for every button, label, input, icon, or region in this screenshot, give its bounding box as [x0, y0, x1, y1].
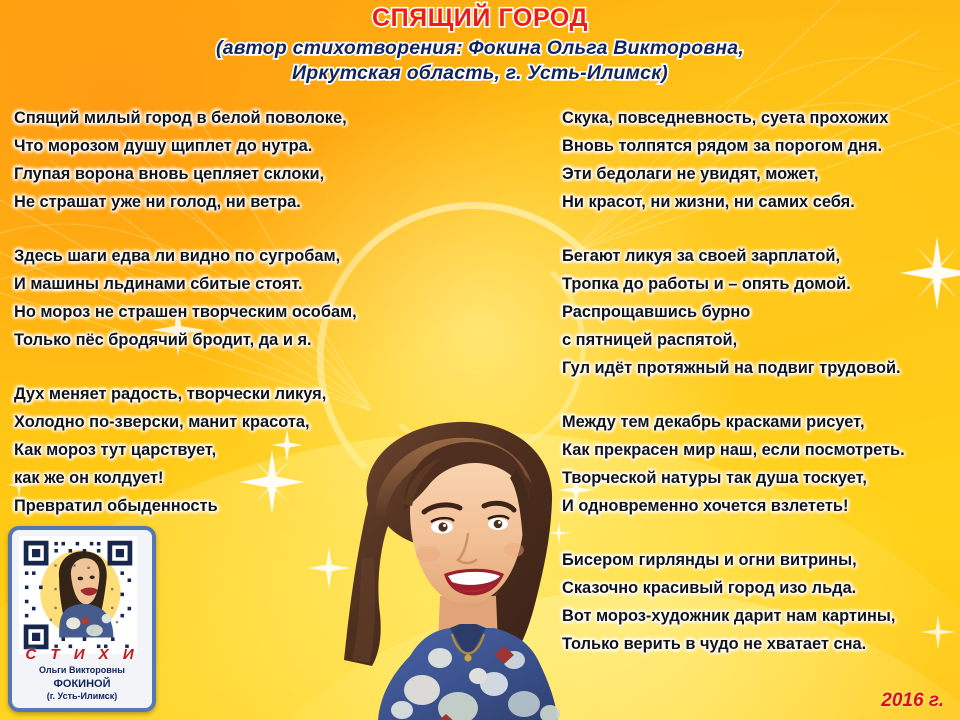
poem-line: Только пёс бродячий бродит, да и я.: [14, 332, 494, 360]
qr-caption-line-1: Ольги Викторовны: [12, 665, 152, 677]
poem-line: Между тем декабрь красками рисует,: [562, 414, 960, 442]
poem-column-left: Спящий милый город в белой поволоке, Что…: [14, 110, 494, 554]
stanza: Между тем декабрь красками рисует, Как п…: [562, 414, 960, 526]
poem-line: Сказочно красивый город изо льда.: [562, 580, 960, 608]
poem-line: Дух меняет радость, творчески ликуя,: [14, 386, 494, 414]
poem-line: Бегают ликуя за своей зарплатой,: [562, 248, 960, 276]
qr-caption-line-2: ФОКИНОЙ: [12, 677, 152, 692]
subtitle-line-1: (автор стихотворения: Фокина Ольга Викто…: [0, 36, 960, 61]
title-block: СПЯЩИЙ ГОРОД (автор стихотворения: Фокин…: [0, 4, 960, 86]
qr-card-caption: Ольги Викторовны ФОКИНОЙ (г. Усть-Илимск…: [12, 665, 152, 703]
poem-line: Здесь шаги едва ли видно по сугробам,: [14, 248, 494, 276]
stanza: Скука, повседневность, суета прохожих Вн…: [562, 110, 960, 222]
poem-line: Распрощавшись бурно: [562, 304, 960, 332]
poem-line: Бисером гирлянды и огни витрины,: [562, 552, 960, 580]
poem-line: Вот мороз-художник дарит нам картины,: [562, 608, 960, 636]
poem-line: И машины льдинами сбитые стоят.: [14, 276, 494, 304]
poem-line: Как прекрасен мир наш, если посмотреть.: [562, 442, 960, 470]
qr-code-card[interactable]: С Т И Х И Ольги Викторовны ФОКИНОЙ (г. У…: [8, 526, 156, 712]
poem-line: Скука, повседневность, суета прохожих: [562, 110, 960, 138]
qr-caption-line-3: (г. Усть-Илимск): [12, 691, 152, 703]
year-label: 2016 г.: [881, 690, 944, 712]
qr-card-word: С Т И Х И: [12, 646, 152, 663]
page-title: СПЯЩИЙ ГОРОД: [0, 4, 960, 34]
poem-line: И одновременно хочется взлететь!: [562, 498, 960, 526]
poem-column-right: Скука, повседневность, суета прохожих Вн…: [562, 110, 960, 664]
poem-line: Не страшат уже ни голод, ни ветра.: [14, 194, 494, 222]
poem-line: Но мороз не страшен творческим особам,: [14, 304, 494, 332]
poem-line: Глупая ворона вновь цепляет склоки,: [14, 166, 494, 194]
stanza: Здесь шаги едва ли видно по сугробам, И …: [14, 248, 494, 360]
poem-line: с пятницей распятой,: [562, 332, 960, 360]
poem-line: Что морозом душу щиплет до нутра.: [14, 138, 494, 166]
poem-line: Гул идёт протяжный на подвиг трудовой.: [562, 360, 960, 388]
poem-line: Вновь толпятся рядом за порогом дня.: [562, 138, 960, 166]
poem-line: Превратил обыденность: [14, 498, 494, 526]
poem-line: Холодно по-зверски, манит красота,: [14, 414, 494, 442]
poem-line: Только верить в чудо не хватает сна.: [562, 636, 960, 664]
stanza: Спящий милый город в белой поволоке, Что…: [14, 110, 494, 222]
stanza: Бегают ликуя за своей зарплатой, Тропка …: [562, 248, 960, 388]
poem-line: Эти бедолаги не увидят, может,: [562, 166, 960, 194]
poem-line: Спящий милый город в белой поволоке,: [14, 110, 494, 138]
poem-line: Ни красот, ни жизни, ни самих себя.: [562, 194, 960, 222]
poem-line: Как мороз тут царствует,: [14, 442, 494, 470]
poster-canvas: СПЯЩИЙ ГОРОД (автор стихотворения: Фокин…: [0, 0, 960, 720]
poem-line: как же он колдует!: [14, 470, 494, 498]
subtitle-line-2: Иркутская область, г. Усть-Илимск): [0, 61, 960, 86]
poem-line: Тропка до работы и – опять домой.: [562, 276, 960, 304]
poem-line: Творческой натуры так душа тоскует,: [562, 470, 960, 498]
qr-code-with-portrait-icon: [19, 536, 137, 654]
stanza: Бисером гирлянды и огни витрины, Сказочн…: [562, 552, 960, 664]
